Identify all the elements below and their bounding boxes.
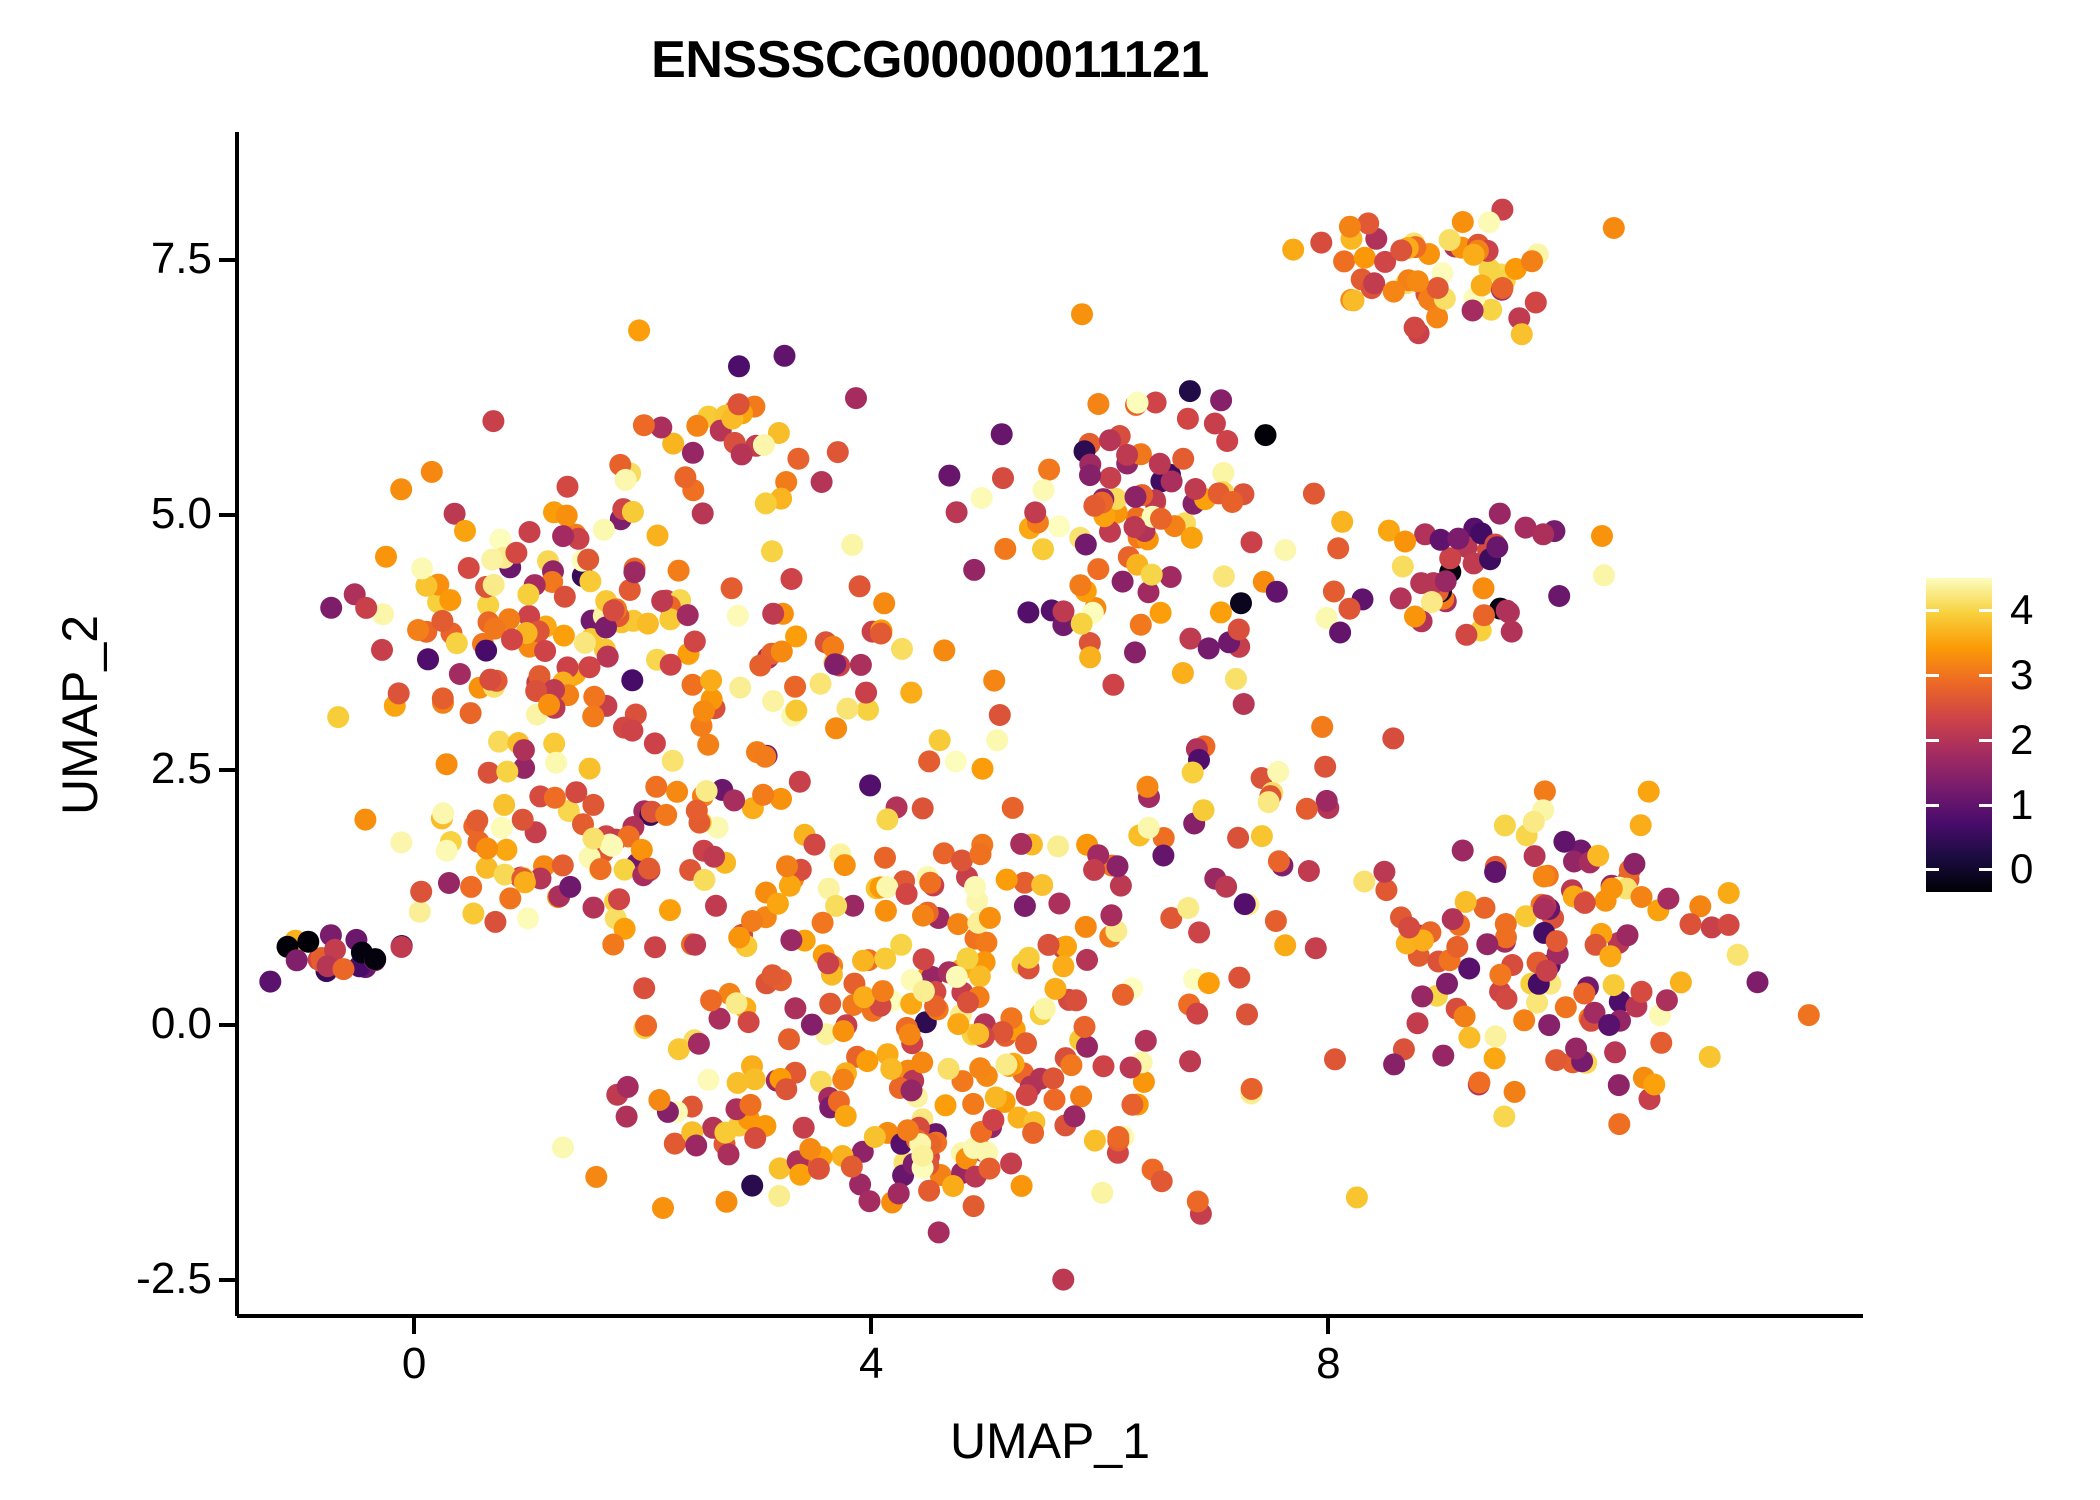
scatter-point (1407, 1012, 1429, 1034)
scatter-point (1311, 716, 1333, 738)
scatter-point (740, 1094, 762, 1116)
scatter-point (1076, 949, 1098, 971)
scatter-point (585, 1166, 607, 1188)
scatter-point (1282, 239, 1304, 261)
scatter-point (1623, 853, 1645, 875)
scatter-point (781, 568, 803, 590)
scatter-point (849, 575, 871, 597)
legend-tick-mark (1979, 868, 1992, 871)
scatter-point (1603, 217, 1625, 239)
scatter-point (1363, 272, 1385, 294)
scatter-point (696, 780, 718, 802)
legend-colorbar (1926, 578, 1992, 892)
scatter-point (1303, 483, 1325, 505)
scatter-point (827, 441, 849, 463)
scatter-point (1127, 392, 1149, 414)
scatter-point (1137, 776, 1159, 798)
scatter-point (876, 876, 898, 898)
scatter-point (1014, 895, 1036, 917)
scatter-point (355, 597, 377, 619)
scatter-point (1656, 989, 1678, 1011)
scatter-point (644, 936, 666, 958)
scatter-point (875, 900, 897, 922)
scatter-point (749, 655, 771, 677)
scatter-point (1310, 232, 1332, 254)
scatter-point (834, 854, 856, 876)
scatter-point (574, 632, 596, 654)
scatter-point (1501, 621, 1523, 643)
scatter-point (417, 648, 439, 670)
legend-tick-mark (1979, 739, 1992, 742)
scatter-point (590, 858, 612, 880)
chart-root: ENSSSCG00000011121 7.55.02.50.0-2.5 048 … (0, 0, 2100, 1500)
scatter-point (446, 632, 468, 654)
y-tick-label: -2.5 (136, 1257, 212, 1301)
scatter-point (1546, 930, 1568, 952)
scatter-point (1069, 574, 1091, 596)
scatter-point (1565, 1038, 1587, 1060)
scatter-point (623, 561, 645, 583)
scatter-point (1493, 1106, 1515, 1128)
scatter-point (538, 694, 560, 716)
scatter-point (933, 639, 955, 661)
scatter-point (1452, 211, 1474, 233)
scatter-point (1228, 967, 1250, 989)
scatter-point (320, 597, 342, 619)
scatter-point (728, 355, 750, 377)
color-legend[interactable]: 43210 (1926, 578, 2086, 898)
scatter-point (1099, 429, 1121, 451)
scatter-point (1267, 761, 1289, 783)
scatter-point (1573, 983, 1595, 1005)
scatter-point (557, 476, 579, 498)
scatter-point (1121, 1094, 1143, 1116)
scatter-point (617, 1076, 639, 1098)
scatter-point (1150, 602, 1172, 624)
scatter-point (1125, 486, 1147, 508)
scatter-point (682, 442, 704, 464)
scatter-point (409, 901, 431, 923)
scatter-point (1010, 833, 1032, 855)
scatter-point (286, 949, 308, 971)
scatter-point (1213, 565, 1235, 587)
scatter-point (1210, 389, 1232, 411)
scatter-point (660, 654, 682, 676)
scatter-point (1210, 601, 1232, 623)
scatter-point (945, 751, 967, 773)
scatter-point (912, 905, 934, 927)
plot-panel[interactable] (237, 132, 1862, 1316)
scatter-point (1047, 835, 1069, 857)
scatter-point (1274, 539, 1296, 561)
scatter-point (1331, 511, 1353, 533)
scatter-point (970, 843, 992, 865)
scatter-point (1617, 924, 1639, 946)
scatter-point (1071, 303, 1093, 325)
scatter-point (1489, 964, 1511, 986)
scatter-point (1548, 585, 1570, 607)
scatter-point (1000, 1153, 1022, 1175)
scatter-point (554, 586, 576, 608)
scatter-point (771, 641, 793, 663)
scatter-point (1149, 453, 1171, 475)
scatter-point (1063, 1105, 1085, 1127)
scatter-point (1718, 914, 1740, 936)
scatter-point (776, 855, 798, 877)
scatter-point (1034, 998, 1056, 1020)
scatter-point (738, 1011, 760, 1033)
scatter-point (622, 501, 644, 523)
scatter-point (1798, 1004, 1820, 1026)
scatter-point (484, 911, 506, 933)
scatter-point (874, 948, 896, 970)
x-axis-title: UMAP_1 (237, 1412, 1863, 1470)
scatter-point (1074, 1016, 1096, 1038)
scatter-point (697, 734, 719, 756)
scatter-point (684, 934, 706, 956)
scatter-point (832, 1020, 854, 1042)
scatter-point (438, 872, 460, 894)
scatter-point (1398, 917, 1420, 939)
scatter-point (1274, 934, 1296, 956)
scatter-point (787, 448, 809, 470)
scatter-point (1187, 1191, 1209, 1213)
scatter-point (668, 560, 690, 582)
scatter-point (1002, 797, 1024, 819)
scatter-point (901, 1079, 923, 1101)
scatter-point (1442, 908, 1464, 930)
scatter-point (729, 677, 751, 699)
scatter-point (801, 1014, 823, 1036)
scatter-point (1011, 1175, 1033, 1197)
scatter-point (1353, 871, 1375, 893)
scatter-point (723, 789, 745, 811)
scatter-point (963, 559, 985, 581)
scatter-point (856, 1050, 878, 1072)
scatter-point (946, 501, 968, 523)
scatter-point (1404, 317, 1426, 339)
scatter-point (655, 804, 677, 826)
scatter-point (410, 881, 432, 903)
scatter-point (496, 761, 518, 783)
scatter-point (1135, 1030, 1157, 1052)
scatter-point (1587, 845, 1609, 867)
legend-tick-mark (1926, 804, 1939, 807)
scatter-point (991, 1021, 1013, 1043)
scatter-point (1471, 274, 1493, 296)
scatter-point (1179, 380, 1201, 402)
scatter-point (1266, 581, 1288, 603)
scatter-point (1553, 831, 1575, 853)
scatter-point (1241, 531, 1263, 553)
scatter-point (514, 871, 536, 893)
scatter-point (799, 1138, 821, 1160)
scatter-point (1198, 637, 1220, 659)
scatter-point (983, 670, 1005, 692)
scatter-point (1357, 212, 1379, 234)
scatter-point (1075, 916, 1097, 938)
scatter-point (1022, 1122, 1044, 1144)
scatter-point (1494, 815, 1516, 837)
scatter-point (1193, 799, 1215, 821)
scatter-point (874, 847, 896, 869)
scatter-point (1198, 972, 1220, 994)
scatter-point (601, 835, 623, 857)
scatter-point (579, 570, 601, 592)
scatter-point (628, 319, 650, 341)
scatter-point (1172, 448, 1194, 470)
scatter-point (436, 840, 458, 862)
scatter-point (462, 903, 484, 925)
scatter-point (1404, 606, 1426, 628)
scatter-point (631, 839, 653, 861)
scatter-point (1316, 790, 1338, 812)
scatter-point (1227, 827, 1249, 849)
scatter-point (1410, 572, 1432, 594)
scatter-point (1486, 536, 1508, 558)
scatter-point (652, 1197, 674, 1219)
scatter-point (1141, 564, 1163, 586)
scatter-point (647, 525, 669, 547)
scatter-point (1038, 459, 1060, 481)
scatter-point (579, 656, 601, 678)
scatter-point (621, 720, 643, 742)
scatter-point (1474, 897, 1496, 919)
scatter-point (698, 1069, 720, 1091)
scatter-point (1608, 1113, 1630, 1135)
scatter-point (1435, 570, 1457, 592)
scatter-point (1513, 1009, 1535, 1031)
scatter-point (1186, 1003, 1208, 1025)
scatter-point (1045, 978, 1067, 1000)
scatter-points-layer (237, 132, 1862, 1316)
scatter-point (810, 673, 832, 695)
scatter-point (986, 729, 1008, 751)
scatter-point (552, 854, 574, 876)
scatter-point (1116, 444, 1138, 466)
y-tick-label: 2.5 (151, 747, 212, 791)
legend-tick-label: 2 (2010, 719, 2033, 761)
scatter-point (991, 423, 1013, 445)
scatter-point (593, 519, 615, 541)
scatter-point (616, 1106, 638, 1128)
scatter-point (1204, 413, 1226, 435)
scatter-point (1120, 1057, 1142, 1079)
scatter-point (493, 794, 515, 816)
scatter-point (721, 577, 743, 599)
scatter-point (1017, 601, 1039, 623)
scatter-point (1048, 515, 1070, 537)
scatter-point (648, 1089, 670, 1111)
scatter-point (635, 1015, 657, 1037)
scatter-point (727, 1072, 749, 1094)
scatter-point (1680, 913, 1702, 935)
scatter-point (1462, 300, 1484, 322)
scatter-point (1383, 281, 1405, 303)
scatter-point (1087, 558, 1109, 580)
scatter-point (259, 971, 281, 993)
scatter-point (1382, 727, 1404, 749)
scatter-point (1604, 1041, 1626, 1063)
scatter-point (1452, 840, 1474, 862)
scatter-point (1018, 947, 1040, 969)
y-tick-mark (219, 513, 235, 517)
x-tick-label: 0 (354, 1342, 474, 1386)
y-axis-line (235, 132, 239, 1316)
scatter-point (483, 574, 505, 596)
scatter-point (1031, 874, 1053, 896)
scatter-point (1718, 882, 1740, 904)
scatter-point (992, 467, 1014, 489)
scatter-point (1015, 1032, 1037, 1054)
scatter-point (449, 663, 471, 685)
scatter-point (1181, 527, 1203, 549)
scatter-point (919, 872, 941, 894)
scatter-point (1150, 508, 1172, 530)
scatter-point (517, 907, 539, 929)
scatter-point (1533, 866, 1555, 888)
scatter-point (1534, 780, 1556, 802)
scatter-point (1495, 926, 1517, 948)
scatter-point (466, 810, 488, 832)
scatter-point (727, 605, 749, 627)
scatter-point (1124, 641, 1146, 663)
scatter-point (1268, 850, 1290, 872)
scatter-point (1052, 955, 1074, 977)
scatter-point (1099, 467, 1121, 489)
legend-tick-mark (1926, 868, 1939, 871)
scatter-point (1373, 861, 1395, 883)
scatter-point (1463, 244, 1485, 266)
scatter-point (784, 676, 806, 698)
scatter-point (1130, 614, 1152, 636)
scatter-point (1524, 845, 1546, 867)
legend-tick-label: 3 (2010, 654, 2033, 696)
scatter-point (552, 525, 574, 547)
scatter-point (1323, 581, 1345, 603)
scatter-point (962, 1093, 984, 1115)
scatter-point (1343, 289, 1365, 311)
scatter-point (1044, 1089, 1066, 1111)
scatter-point (789, 771, 811, 793)
x-tick-mark (412, 1318, 416, 1334)
scatter-point (1234, 893, 1256, 915)
scatter-point (602, 934, 624, 956)
scatter-point (812, 912, 834, 934)
scatter-point (1185, 478, 1207, 500)
scatter-point (911, 1052, 933, 1074)
scatter-point (505, 542, 527, 564)
scatter-point (929, 729, 951, 751)
scatter-point (1392, 556, 1414, 578)
scatter-point (1727, 944, 1749, 966)
scatter-point (1032, 538, 1054, 560)
scatter-point (608, 888, 630, 910)
scatter-point (1439, 229, 1461, 251)
scatter-point (1258, 791, 1280, 813)
scatter-point (1526, 992, 1548, 1014)
scatter-point (1484, 861, 1506, 883)
scatter-point (1699, 1046, 1721, 1068)
scatter-point (1591, 525, 1613, 547)
scatter-point (754, 746, 776, 768)
scatter-point (390, 831, 412, 853)
scatter-point (1638, 781, 1660, 803)
x-tick-mark (1326, 1318, 1330, 1334)
scatter-point (682, 674, 704, 696)
scatter-point (543, 733, 565, 755)
scatter-point (1233, 693, 1255, 715)
scatter-point (481, 549, 503, 571)
x-tick-label: 4 (811, 1342, 931, 1386)
scatter-point (832, 1069, 854, 1091)
scatter-point (666, 781, 688, 803)
scatter-point (897, 1119, 919, 1141)
scatter-point (688, 1033, 710, 1055)
scatter-point (912, 797, 934, 819)
scatter-point (686, 800, 708, 822)
scatter-point (911, 1145, 933, 1167)
scatter-point (957, 947, 979, 969)
scatter-point (714, 1122, 736, 1144)
scatter-point (778, 1028, 800, 1050)
scatter-point (644, 732, 666, 754)
scatter-point (913, 980, 935, 1002)
scatter-point (975, 932, 997, 954)
scatter-point (495, 839, 517, 861)
scatter-point (768, 1185, 790, 1207)
scatter-point (545, 752, 567, 774)
y-tick-label: 5.0 (151, 492, 212, 536)
scatter-point (1230, 592, 1252, 614)
scatter-point (873, 592, 895, 614)
scatter-point (989, 704, 1011, 726)
scatter-point (1060, 1054, 1082, 1076)
scatter-point (297, 931, 319, 953)
scatter-point (1236, 1003, 1258, 1025)
scatter-point (1478, 211, 1500, 233)
scatter-point (1504, 1081, 1526, 1103)
scatter-point (1024, 501, 1046, 523)
scatter-point (1458, 1027, 1480, 1049)
scatter-point (1496, 600, 1518, 622)
scatter-point (808, 1158, 830, 1180)
scatter-point (947, 913, 969, 935)
legend-tick-mark (1979, 674, 1992, 677)
scatter-point (1070, 1085, 1092, 1107)
scatter-point (1446, 936, 1468, 958)
scatter-point (582, 828, 604, 850)
scatter-point (439, 589, 461, 611)
scatter-point (852, 950, 874, 972)
scatter-point (761, 964, 783, 986)
scatter-point (762, 603, 784, 625)
scatter-point (1087, 393, 1109, 415)
scatter-point (488, 731, 510, 753)
scatter-point (1172, 662, 1194, 684)
scatter-point (512, 809, 534, 831)
legend-tick-label: 4 (2010, 589, 2033, 631)
scatter-point (1093, 1055, 1115, 1077)
scatter-point (1083, 495, 1105, 517)
y-tick-mark (219, 768, 235, 772)
scatter-point (674, 466, 696, 488)
scatter-point (1643, 1074, 1665, 1096)
scatter-point (845, 387, 867, 409)
scatter-point (1657, 888, 1679, 910)
scatter-point (633, 977, 655, 999)
scatter-point (1432, 1045, 1454, 1067)
